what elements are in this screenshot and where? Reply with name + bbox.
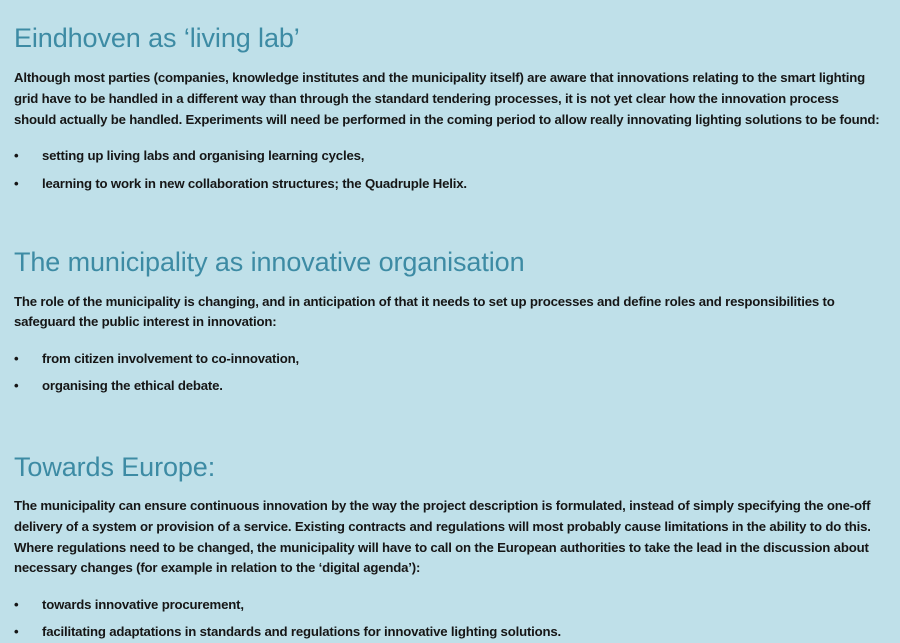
bullet-marker-icon: • xyxy=(14,349,24,370)
document-page: Eindhoven as ‘living lab’ Although most … xyxy=(0,0,900,622)
list-item: •setting up living labs and organising l… xyxy=(14,146,886,167)
bullet-marker-icon: • xyxy=(14,376,24,397)
bullet-marker-icon: • xyxy=(14,146,24,167)
list-item: •organising the ethical debate. xyxy=(14,376,886,397)
list-item: •from citizen involvement to co-innovati… xyxy=(14,349,886,370)
list-item: •facilitating adaptations in standards a… xyxy=(14,622,886,643)
section-paragraph: The role of the municipality is changing… xyxy=(14,292,884,333)
list-item-label: from citizen involvement to co-innovatio… xyxy=(42,351,299,366)
list-item-label: facilitating adaptations in standards an… xyxy=(42,624,561,639)
bullet-marker-icon: • xyxy=(14,622,24,643)
section-paragraph: The municipality can ensure continuous i… xyxy=(14,496,884,578)
bullet-list: •from citizen involvement to co-innovati… xyxy=(14,349,886,397)
bullet-marker-icon: • xyxy=(14,174,24,195)
bullet-list: •towards innovative procurement, •facili… xyxy=(14,595,886,643)
list-item-label: towards innovative procurement, xyxy=(42,597,244,612)
section-eindhoven-living-lab: Eindhoven as ‘living lab’ Although most … xyxy=(14,0,886,194)
section-towards-europe: Towards Europe: The municipality can ens… xyxy=(14,427,886,643)
list-item: •towards innovative procurement, xyxy=(14,595,886,616)
list-item-label: setting up living labs and organising le… xyxy=(42,148,364,163)
list-item-label: organising the ethical debate. xyxy=(42,378,223,393)
bullet-marker-icon: • xyxy=(14,595,24,616)
section-heading: The municipality as innovative organisat… xyxy=(14,223,886,276)
list-item-label: learning to work in new collaboration st… xyxy=(42,176,467,191)
section-heading: Eindhoven as ‘living lab’ xyxy=(14,0,886,52)
list-item: •learning to work in new collaboration s… xyxy=(14,174,886,195)
bullet-list: •setting up living labs and organising l… xyxy=(14,146,886,194)
section-municipality-innovative-organisation: The municipality as innovative organisat… xyxy=(14,223,886,397)
section-heading: Towards Europe: xyxy=(14,427,886,481)
section-paragraph: Although most parties (companies, knowle… xyxy=(14,68,884,130)
